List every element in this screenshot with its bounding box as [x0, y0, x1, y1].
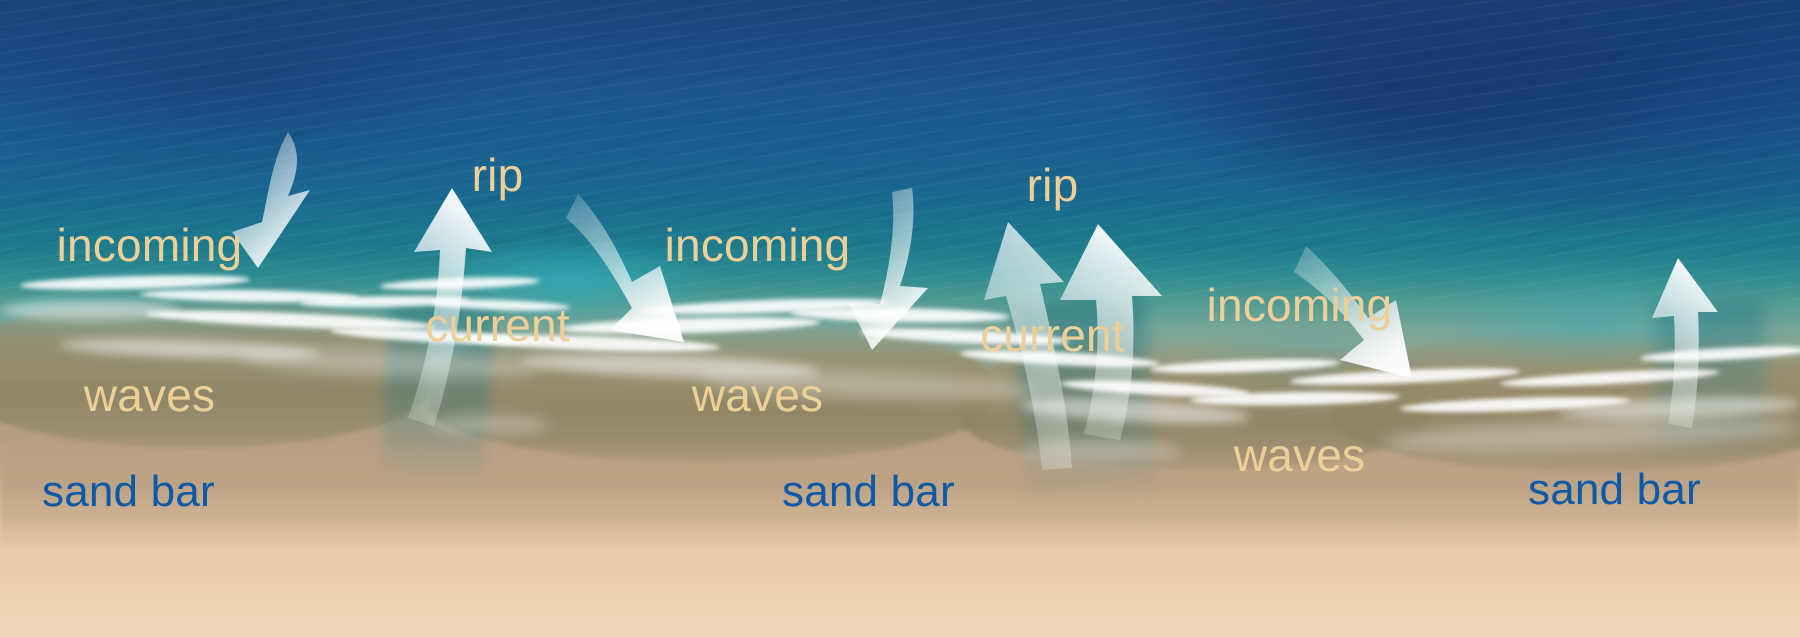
label-rip-current-2-line1: rip: [975, 162, 1130, 208]
label-incoming-waves-2-line1: incoming: [650, 222, 865, 268]
label-rip-current-1-line2: current: [420, 302, 575, 348]
label-sand-bar-3: sand bar: [1528, 468, 1701, 512]
label-incoming-waves-3: incoming waves: [1192, 190, 1407, 570]
label-rip-current-2: rip current: [975, 70, 1130, 450]
rip-current-arrow-4: [1652, 258, 1718, 428]
label-incoming-waves-3-line1: incoming: [1192, 282, 1407, 328]
label-sand-bar-1: sand bar: [42, 470, 215, 514]
label-rip-current-1: rip current: [420, 60, 575, 440]
rip-current-figure: incoming waves rip current incoming wave…: [0, 0, 1800, 637]
label-incoming-waves-3-line2: waves: [1192, 432, 1407, 478]
label-incoming-waves-2-line2: waves: [650, 372, 865, 418]
label-sand-bar-2: sand bar: [782, 470, 955, 514]
label-incoming-waves-1-line1: incoming: [42, 222, 257, 268]
label-rip-current-2-line2: current: [975, 312, 1130, 358]
label-rip-current-1-line1: rip: [420, 152, 575, 198]
annotation-arrows: [0, 0, 1800, 637]
label-incoming-waves-1-line2: waves: [42, 372, 257, 418]
label-incoming-waves-2: incoming waves: [650, 130, 865, 510]
label-incoming-waves-1: incoming waves: [42, 130, 257, 510]
